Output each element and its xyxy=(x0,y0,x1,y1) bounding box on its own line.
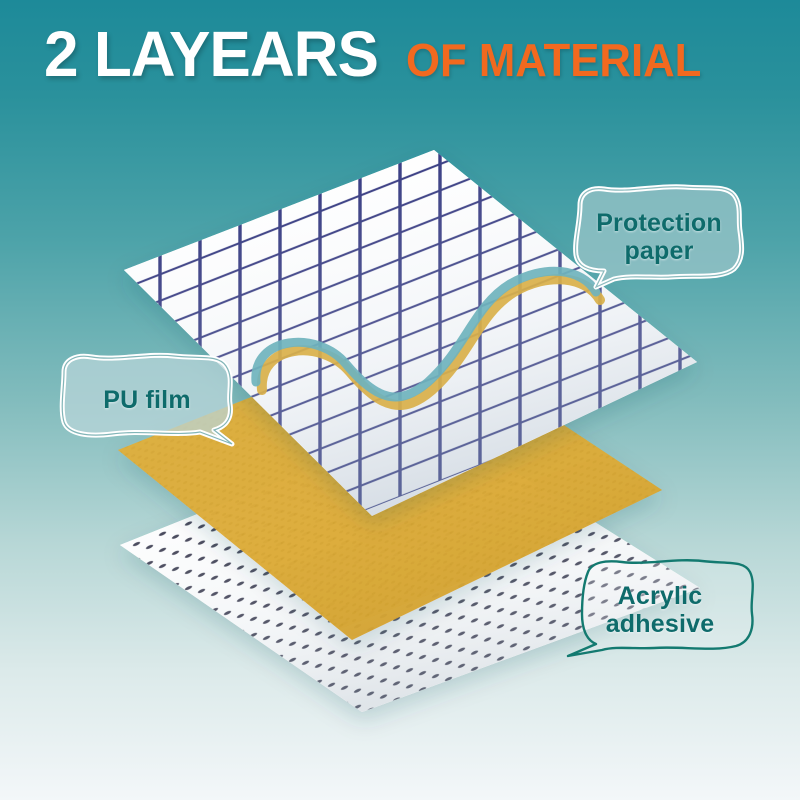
callout-pu-line1: PU film xyxy=(103,386,191,415)
callout-acrylic-line1: Acrylic xyxy=(618,582,703,611)
callout-protection-line2: paper xyxy=(624,237,693,266)
callout-acrylic-line2: adhesive xyxy=(606,610,715,639)
callout-acrylic-adhesive[interactable]: Acrylic adhesive xyxy=(562,556,758,664)
infographic-canvas: 2 LAYEARS OF MATERIAL xyxy=(0,0,800,800)
callout-pu-film[interactable]: PU film xyxy=(54,352,240,448)
callout-protection-paper[interactable]: Protection paper xyxy=(566,183,752,291)
callout-protection-line1: Protection xyxy=(596,209,722,238)
